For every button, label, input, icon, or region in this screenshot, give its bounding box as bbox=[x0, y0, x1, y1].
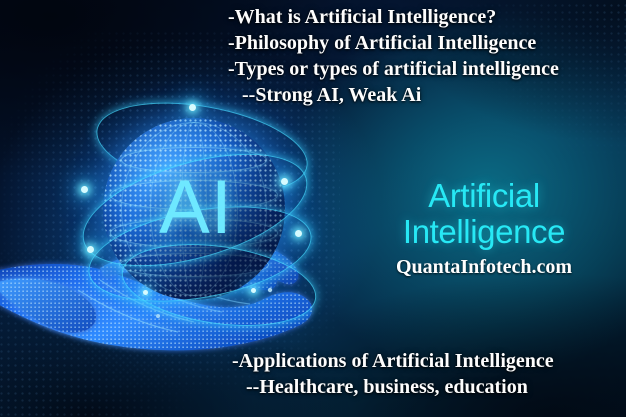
topic-item: -Applications of Artificial Intelligence bbox=[232, 348, 554, 374]
topic-list-bottom: -Applications of Artificial Intelligence… bbox=[232, 348, 554, 400]
ai-poster: AI -What is Artificial Intelligence? -Ph… bbox=[0, 0, 626, 417]
brand-url: QuantaInfotech.com bbox=[360, 256, 608, 279]
sphere-ai-label: AI bbox=[103, 118, 285, 300]
topic-item-sub: --Strong AI, Weak Ai bbox=[228, 82, 559, 108]
brand-title-line1: Artificial bbox=[360, 178, 608, 214]
brand-title-line2: Intelligence bbox=[360, 214, 608, 250]
topic-item: -Types or types of artificial intelligen… bbox=[228, 56, 559, 82]
topic-item: -What is Artificial Intelligence? bbox=[228, 4, 559, 30]
topic-item-sub: --Healthcare, business, education bbox=[232, 374, 554, 400]
brand-block: Artificial Intelligence QuantaInfotech.c… bbox=[360, 178, 608, 279]
topic-item: -Philosophy of Artificial Intelligence bbox=[228, 30, 559, 56]
orbit-spark bbox=[87, 246, 94, 253]
orbit-spark bbox=[189, 104, 196, 111]
orbit-spark bbox=[81, 186, 88, 193]
orbit-spark bbox=[295, 230, 302, 237]
ai-globe-icon: AI bbox=[103, 118, 285, 300]
topic-list-top: -What is Artificial Intelligence? -Philo… bbox=[228, 4, 559, 108]
